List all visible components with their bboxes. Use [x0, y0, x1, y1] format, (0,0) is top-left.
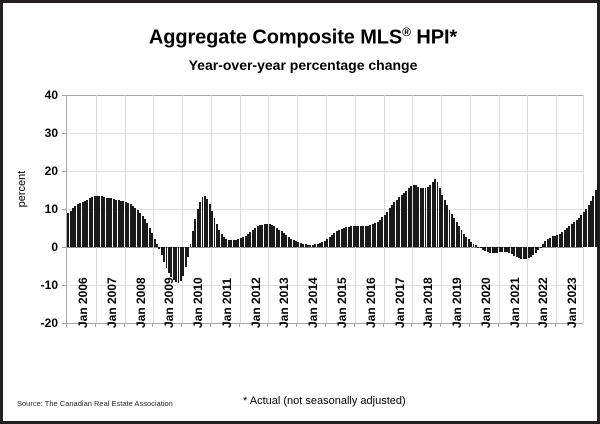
x-tick-label-jan-2020: Jan 2020 [479, 277, 493, 328]
gridline-x-jan-2023 [556, 95, 557, 323]
gridline-x-jan-2021 [499, 95, 500, 323]
x-tick-mark-6 [239, 323, 240, 327]
gridline-x-jan-2014 [297, 95, 298, 323]
x-tick-label-jan-2016: Jan 2016 [364, 277, 378, 328]
footnote: * Actual (not seasonally adjusted) [243, 395, 406, 407]
gridline-y-40 [67, 95, 583, 96]
chart-subtitle: Year-over-year percentage change [3, 57, 600, 73]
x-tick-mark-0 [66, 323, 67, 327]
x-tick-label-jan-2011: Jan 2011 [220, 278, 234, 328]
x-tick-mark-16 [526, 323, 527, 327]
x-tick-label-jan-2021: Jan 2021 [508, 277, 522, 328]
chart-title-tail: HPI* [411, 27, 457, 49]
x-tick-mark-13 [440, 323, 441, 327]
x-tick-mark-8 [296, 323, 297, 327]
gridline-x-jan-2011 [211, 95, 212, 323]
y-tick-label-10: 10 [16, 203, 58, 215]
gridline-x-jan-2020 [470, 95, 471, 323]
gridline-x-jan-2013 [268, 95, 269, 323]
x-tick-label-jan-2013: Jan 2013 [277, 277, 291, 328]
x-tick-mark-2 [124, 323, 125, 327]
gridline-x-jan-2012 [240, 95, 241, 323]
x-tick-label-jan-2015: Jan 2015 [335, 277, 349, 328]
gridline-x-jan-2017 [384, 95, 385, 323]
x-tick-mark-11 [383, 323, 384, 327]
gridline-x-jan-2022 [527, 95, 528, 323]
y-tick-mark--10 [62, 285, 67, 286]
gridline-y-10 [67, 209, 583, 210]
x-tick-mark-7 [267, 323, 268, 327]
chart-title: Aggregate Composite MLS® HPI* [3, 25, 600, 50]
x-tick-mark-15 [498, 323, 499, 327]
y-tick-mark-40 [62, 95, 67, 96]
gridline-x-jan-2010 [182, 95, 183, 323]
y-tick-label-20: 20 [16, 165, 58, 177]
gridline-x-jan-2016 [355, 95, 356, 323]
x-tick-mark-1 [95, 323, 96, 327]
x-tick-mark-12 [411, 323, 412, 327]
x-tick-label-jan-2009: Jan 2009 [162, 277, 176, 328]
x-tick-mark-14 [469, 323, 470, 327]
x-tick-label-jan-2022: Jan 2022 [536, 277, 550, 328]
x-tick-label-jan-2018: Jan 2018 [421, 277, 435, 328]
x-tick-label-jan-2023: Jan 2023 [565, 277, 579, 328]
y-axis-label: percent [16, 139, 28, 239]
x-tick-label-jan-2019: Jan 2019 [450, 277, 464, 328]
chart-frame: Aggregate Composite MLS® HPI* Year-over-… [0, 0, 600, 424]
x-tick-mark-3 [152, 323, 153, 327]
gridline-x-jan-2015 [326, 95, 327, 323]
gridline-y-20 [67, 171, 583, 172]
y-tick-label--20: -20 [16, 317, 58, 329]
x-tick-mark-17 [555, 323, 556, 327]
x-tick-label-jan-2007: Jan 2007 [105, 277, 119, 328]
x-tick-mark-4 [181, 323, 182, 327]
x-tick-label-jan-2014: Jan 2014 [306, 277, 320, 328]
y-tick-mark-0 [62, 247, 67, 248]
gridline-x-jan-2009 [153, 95, 154, 323]
chart-title-main: Aggregate Composite MLS [149, 27, 402, 49]
x-tick-label-jan-2017: Jan 2017 [393, 277, 407, 328]
bar [540, 247, 542, 248]
x-tick-label-jan-2010: Jan 2010 [191, 277, 205, 328]
bar [187, 247, 189, 257]
y-tick-label--10: -10 [16, 279, 58, 291]
y-tick-label-40: 40 [16, 89, 58, 101]
x-tick-label-jan-2006: Jan 2006 [76, 277, 90, 328]
y-tick-mark-30 [62, 133, 67, 134]
y-tick-mark-10 [62, 209, 67, 210]
x-tick-mark-10 [354, 323, 355, 327]
y-tick-label-0: 0 [16, 241, 58, 253]
x-tick-label-jan-2008: Jan 2008 [134, 277, 148, 328]
x-tick-mark-5 [210, 323, 211, 327]
y-tick-label-30: 30 [16, 127, 58, 139]
gridline-y-30 [67, 133, 583, 134]
y-tick-mark-20 [62, 171, 67, 172]
registered-trademark-icon: ® [402, 25, 411, 39]
x-tick-mark-9 [325, 323, 326, 327]
x-tick-label-jan-2012: Jan 2012 [249, 277, 263, 328]
source-note: Source: The Canadian Real Estate Associa… [17, 399, 173, 408]
